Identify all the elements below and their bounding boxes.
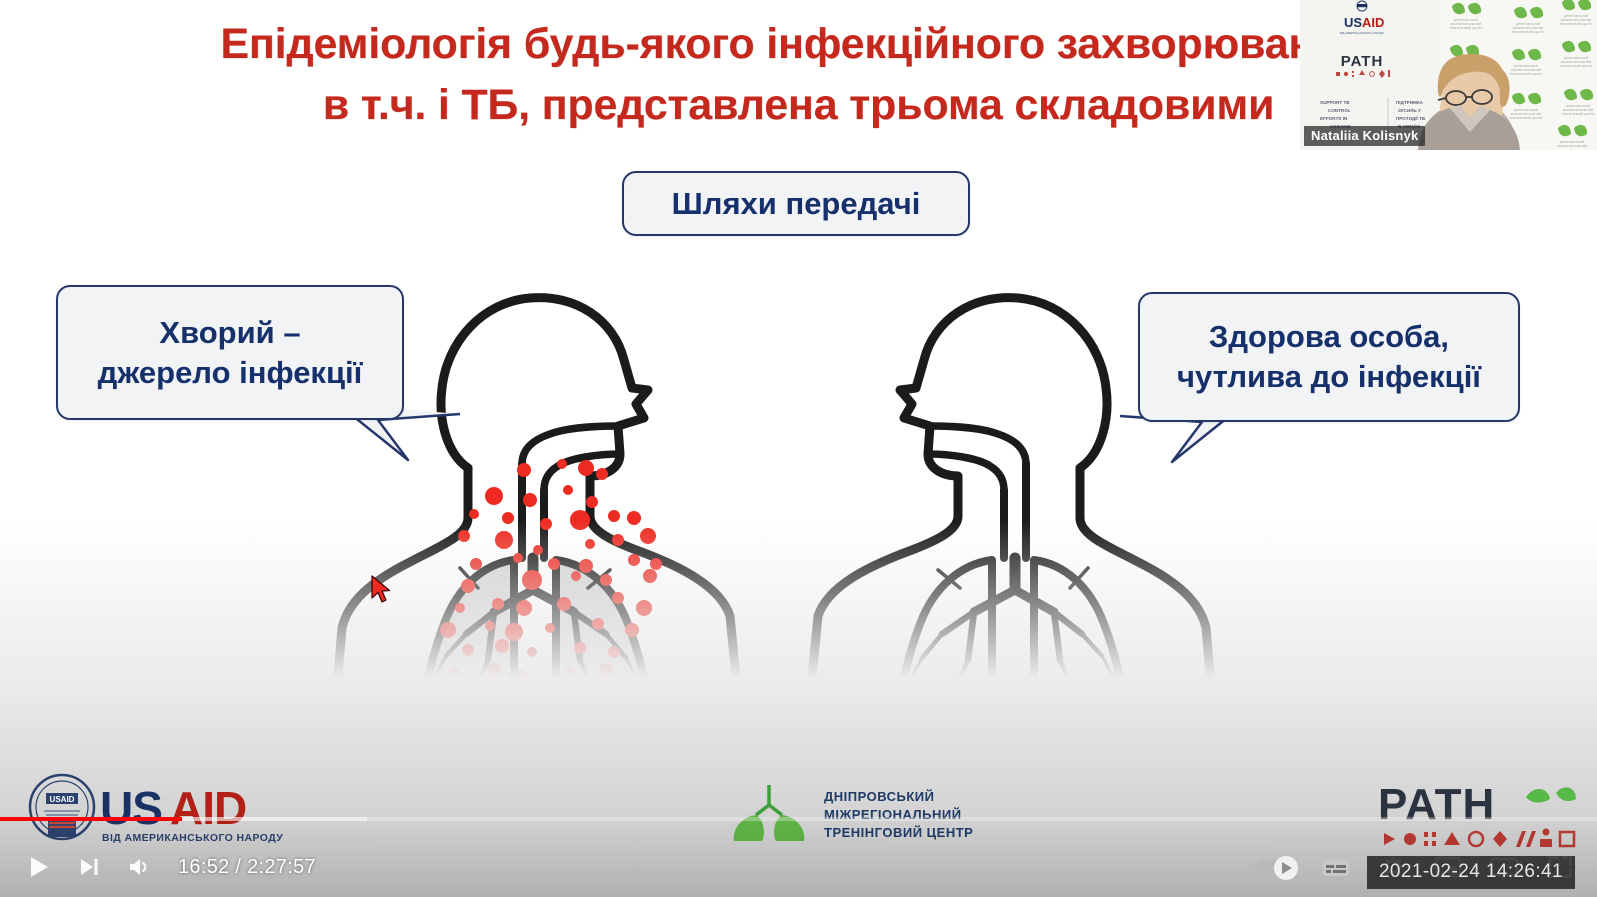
svg-text:ТРЕНІНГОВИЙ ЦЕНТР: ТРЕНІНГОВИЙ ЦЕНТР [1559,22,1592,26]
svg-text:ТРЕНІНГОВИЙ ЦЕНТР: ТРЕНІНГОВИЙ ЦЕНТР [1511,30,1544,34]
fullscreen-icon [1546,854,1574,880]
svg-text:ВІД АМЕРИКАНСЬКОГО НАРОДУ: ВІД АМЕРИКАНСЬКОГО НАРОДУ [1340,31,1384,35]
volume-icon [126,854,152,880]
subtitles-icon [1321,854,1351,880]
svg-text:ТРЕНІНГОВИЙ ЦЕНТР: ТРЕНІНГОВИЙ ЦЕНТР [1559,64,1592,68]
backdrop-path-logo: PATH [1336,53,1390,78]
callout-infection-source: Хворий – джерело інфекції [56,285,404,420]
svg-text:SUPPORT TB: SUPPORT TB [1320,100,1350,105]
speaker-webcam-pip[interactable]: ДНІПРОВСЬКИЙМІЖРЕГІОНАЛЬНИЙТРЕНІНГОВИЙ Ц… [1300,0,1597,150]
player-controls[interactable]: 16:52 / 2:27:57 [0,811,1597,897]
svg-text:CONTROL: CONTROL [1328,108,1351,113]
theater-mode-button[interactable] [1481,844,1527,890]
video-player[interactable]: Епідеміологія будь-якого інфекційного за… [0,0,1597,897]
svg-text:ТРЕНІНГОВИЙ ЦЕНТР: ТРЕНІНГОВИЙ ЦЕНТР [1561,112,1594,116]
next-video-button[interactable] [66,844,112,890]
svg-text:PATH: PATH [1341,53,1384,70]
fullscreen-button[interactable] [1537,844,1583,890]
svg-text:МІЖРЕГІОНАЛЬНИЙ: МІЖРЕГІОНАЛЬНИЙ [1557,144,1587,148]
theater-icon [1489,854,1519,880]
time-display: 16:52 / 2:27:57 [166,856,326,879]
autoplay-toggle-icon [1253,854,1301,880]
play-button[interactable] [16,844,62,890]
play-icon [26,854,52,880]
svg-text:US: US [1344,15,1362,30]
speaker-name-label: Nataliia Kolisnyk [1304,126,1425,146]
svg-text:ДНІПРОВСЬКИЙ: ДНІПРОВСЬКИЙ [824,789,934,804]
svg-text:ТРЕНІНГОВИЙ ЦЕНТР: ТРЕНІНГОВИЙ ЦЕНТР [1509,116,1542,120]
svg-text:EFFORTS IN: EFFORTS IN [1320,116,1348,121]
volume-button[interactable] [116,844,162,890]
settings-button[interactable] [1369,844,1415,890]
progress-played [0,817,182,821]
callout-susceptible-person: Здорова особа, чутлива до інфекції [1138,292,1520,422]
gear-icon [1378,853,1406,881]
svg-text:ЗУСИЛЬ У: ЗУСИЛЬ У [1398,108,1421,113]
svg-text:ТРЕНІНГОВИЙ ЦЕНТР: ТРЕНІНГОВИЙ ЦЕНТР [1449,26,1482,30]
svg-text:USAID: USAID [50,795,75,804]
autoplay-toggle[interactable] [1251,844,1303,890]
svg-text:ПРОТИДІЇ ТБ: ПРОТИДІЇ ТБ [1396,115,1426,121]
svg-text:AID: AID [1362,15,1384,30]
progress-bar[interactable] [0,817,1597,821]
miniplayer-button[interactable] [1425,844,1471,890]
svg-text:ПІДТРИМКА: ПІДТРИМКА [1396,100,1424,105]
callout-transmission-routes: Шляхи передачі [622,171,970,236]
svg-text:ТРЕНІНГОВИЙ ЦЕНТР: ТРЕНІНГОВИЙ ЦЕНТР [1509,72,1542,76]
subtitles-button[interactable] [1313,844,1359,890]
miniplayer-icon [1434,854,1462,880]
next-track-icon [77,855,101,879]
